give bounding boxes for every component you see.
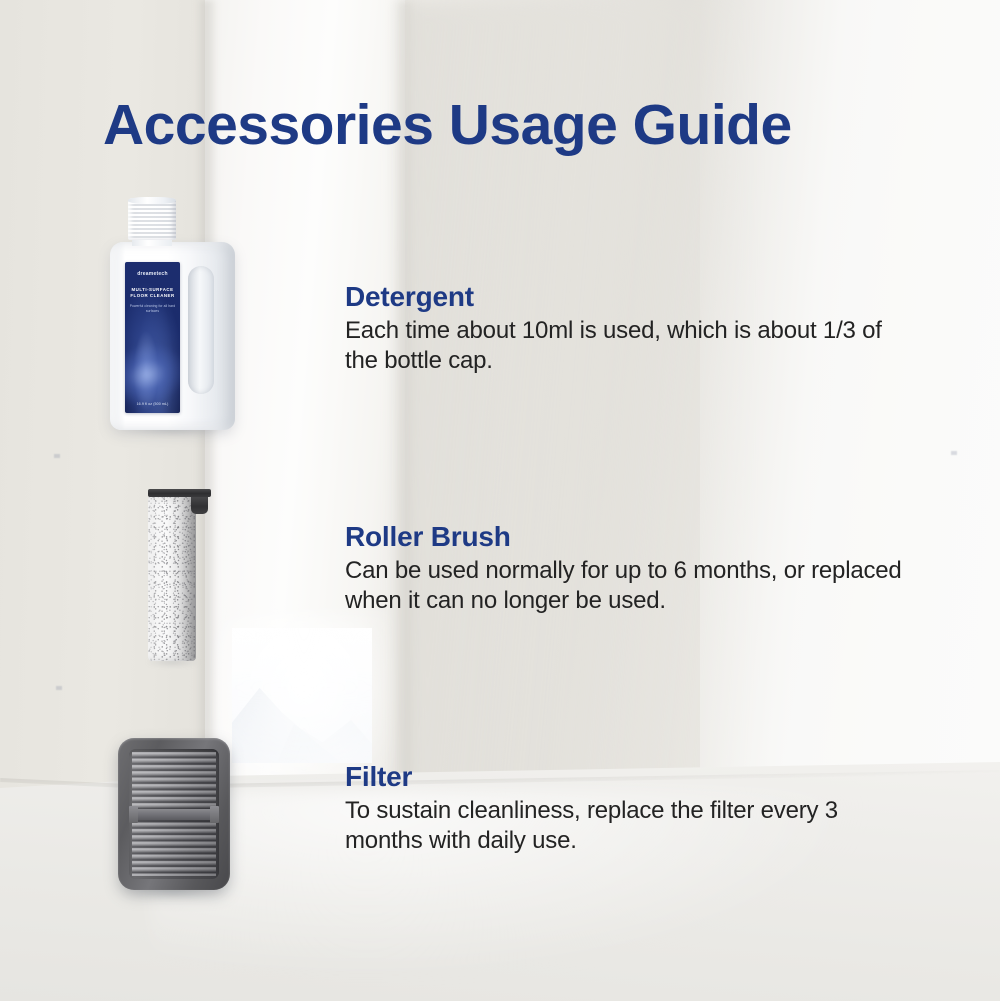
filter-image <box>118 738 230 890</box>
bottle-cap <box>128 198 176 240</box>
page-title: Accessories Usage Guide <box>103 93 792 157</box>
infographic-canvas: Accessories Usage Guide dreametech MULTI… <box>0 0 1000 1001</box>
filter-clip-left <box>129 806 138 823</box>
roller-brush-image <box>143 489 235 661</box>
section-body-filter: To sustain cleanliness, replace the filt… <box>345 796 920 856</box>
filter-inner-well <box>129 749 219 879</box>
section-heading-roller-brush: Roller Brush <box>345 520 920 554</box>
background-speck <box>56 686 62 690</box>
section-body-roller-brush: Can be used normally for up to 6 months,… <box>345 556 920 616</box>
section-heading-filter: Filter <box>345 760 920 794</box>
background-speck <box>951 451 957 455</box>
label-swirl-graphic <box>125 332 180 413</box>
roller-top-bar <box>148 489 211 497</box>
section-body-detergent: Each time about 10ml is used, which is a… <box>345 316 920 376</box>
detergent-bottle-image: dreametech MULTI-SURFACE FLOOR CLEANER P… <box>110 198 235 430</box>
label-tagline: Powerful cleaning for all hard surfaces <box>125 304 180 313</box>
background-speck <box>54 454 60 458</box>
section-filter: Filter To sustain cleanliness, replace t… <box>345 760 920 856</box>
label-product-name: MULTI-SURFACE FLOOR CLEANER <box>125 287 180 299</box>
window-glow <box>218 612 390 780</box>
filter-frame <box>118 738 230 890</box>
roller-end-tab <box>191 495 208 514</box>
bottle-cap-top <box>128 197 176 204</box>
filter-clip-right <box>210 806 219 823</box>
section-heading-detergent: Detergent <box>345 280 920 314</box>
bottle-label: dreametech MULTI-SURFACE FLOOR CLEANER P… <box>125 262 180 413</box>
roller-shading <box>148 496 196 661</box>
label-volume: 16.9 fl oz (500 mL) <box>125 402 180 406</box>
roller-brush-cylinder <box>148 496 196 661</box>
section-roller-brush: Roller Brush Can be used normally for up… <box>345 520 920 616</box>
section-detergent: Detergent Each time about 10ml is used, … <box>345 280 920 376</box>
label-brand-text: dreametech <box>125 271 180 277</box>
filter-center-bar <box>133 809 215 820</box>
bottle-grip-indent <box>188 266 214 394</box>
